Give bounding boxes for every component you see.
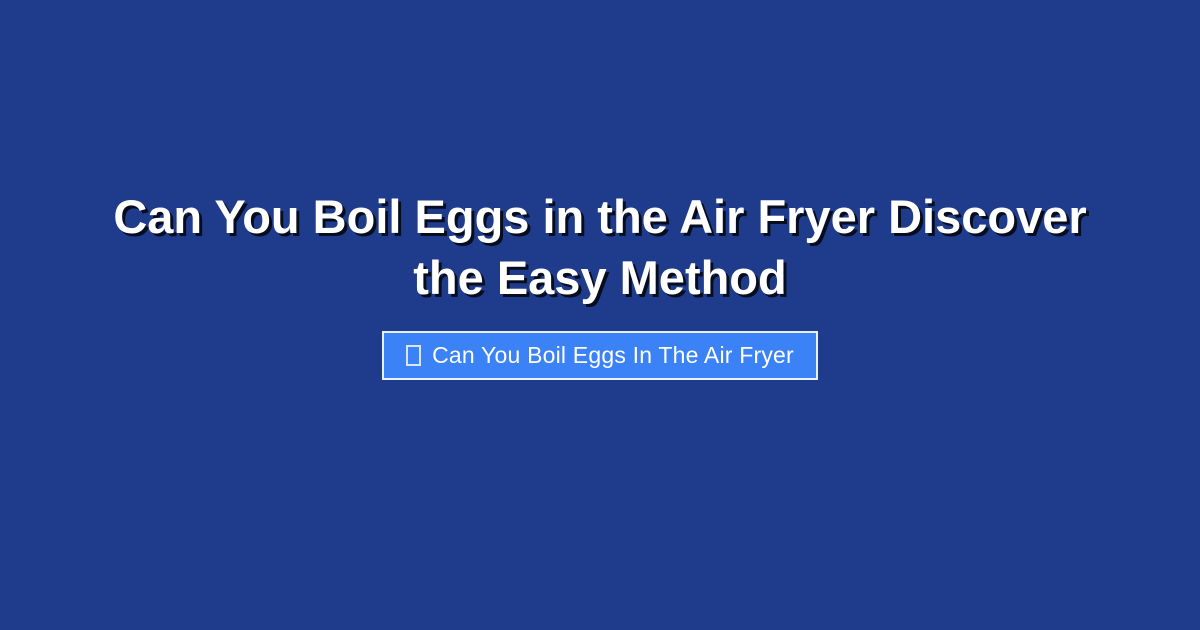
topic-badge-label: Can You Boil Eggs In The Air Fryer [432,344,794,367]
topic-badge-button[interactable]: Can You Boil Eggs In The Air Fryer [382,331,818,380]
card-content: Can You Boil Eggs in the Air Fryer Disco… [0,186,1200,380]
badge-row: Can You Boil Eggs In The Air Fryer [0,331,1200,380]
missing-glyph-box-icon [406,345,421,366]
social-share-card: Can You Boil Eggs in the Air Fryer Disco… [0,0,1200,630]
page-title: Can You Boil Eggs in the Air Fryer Disco… [85,186,1115,308]
